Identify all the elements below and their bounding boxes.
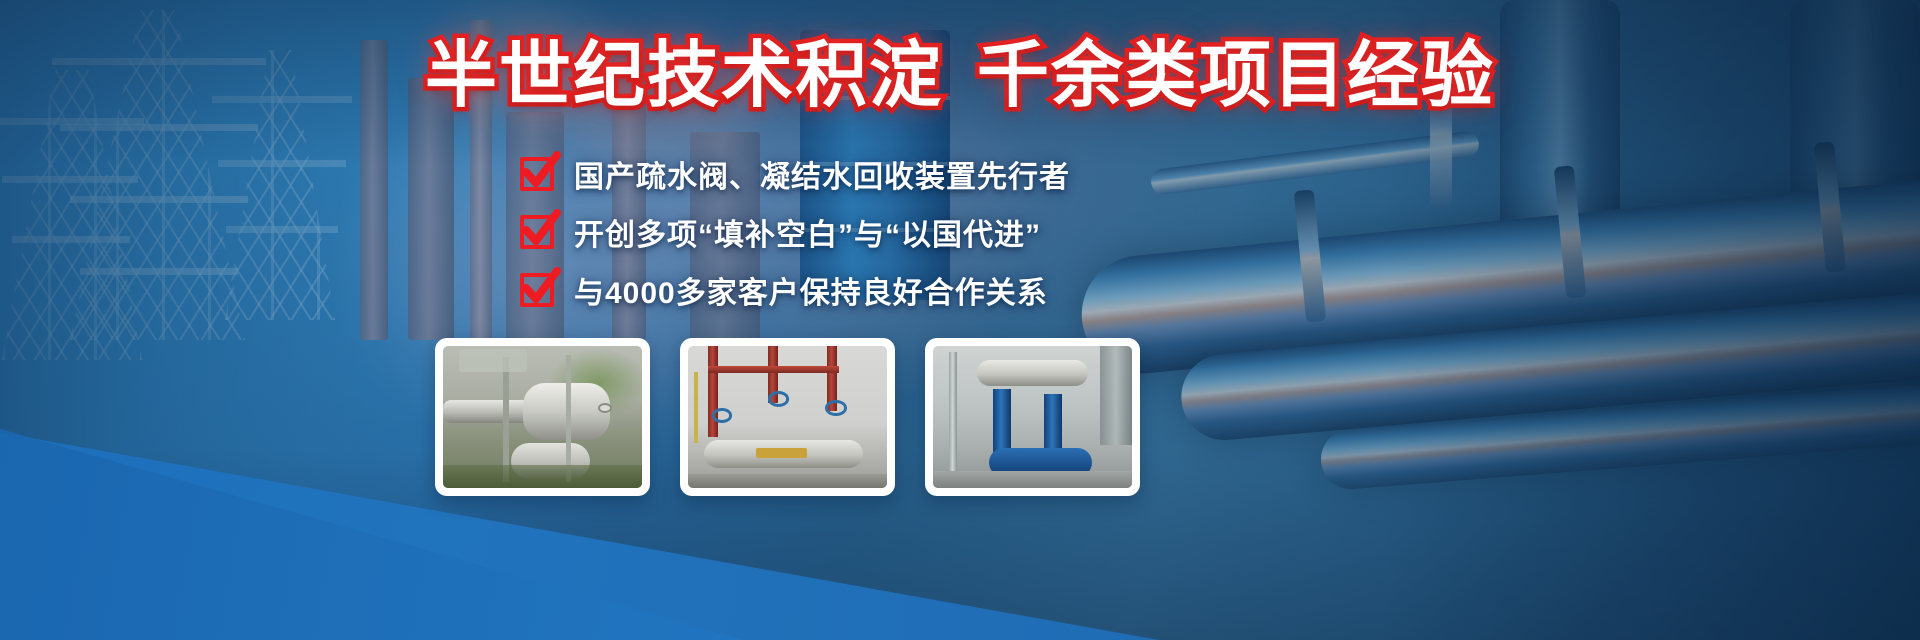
red-pipework-valves-photo (688, 346, 887, 488)
list-item: 与4000多家客户保持良好合作关系 (520, 268, 1070, 312)
headline-part-2: 千余类项目经验 (977, 36, 1495, 116)
headline-part-1: 半世纪技术积淀 (425, 36, 943, 116)
checkbox-checked-icon (520, 157, 554, 191)
checkbox-checked-icon (520, 215, 554, 249)
feature-text: 与4000多家客户保持良好合作关系 (574, 268, 1048, 312)
list-item: 国产疏水阀、凝结水回收装置先行者 (520, 152, 1070, 196)
photo-card[interactable] (680, 338, 895, 496)
feature-text: 国产疏水阀、凝结水回收装置先行者 (574, 152, 1070, 196)
photo-card[interactable] (435, 338, 650, 496)
checkbox-checked-icon (520, 273, 554, 307)
photo-card-list (435, 338, 1140, 496)
photo-card[interactable] (925, 338, 1140, 496)
promo-banner: 半世纪技术积淀千余类项目经验 国产疏水阀、凝结水回收装置先行者 开创多项“填补空… (0, 0, 1920, 640)
steam-trap-vessel-photo (443, 346, 642, 488)
condensate-recovery-skid-photo (933, 346, 1132, 488)
headline: 半世纪技术积淀千余类项目经验 (0, 38, 1920, 116)
feature-list: 国产疏水阀、凝结水回收装置先行者 开创多项“填补空白”与“以国代进” 与4000… (520, 152, 1070, 312)
feature-text: 开创多项“填补空白”与“以国代进” (574, 210, 1041, 254)
list-item: 开创多项“填补空白”与“以国代进” (520, 210, 1070, 254)
